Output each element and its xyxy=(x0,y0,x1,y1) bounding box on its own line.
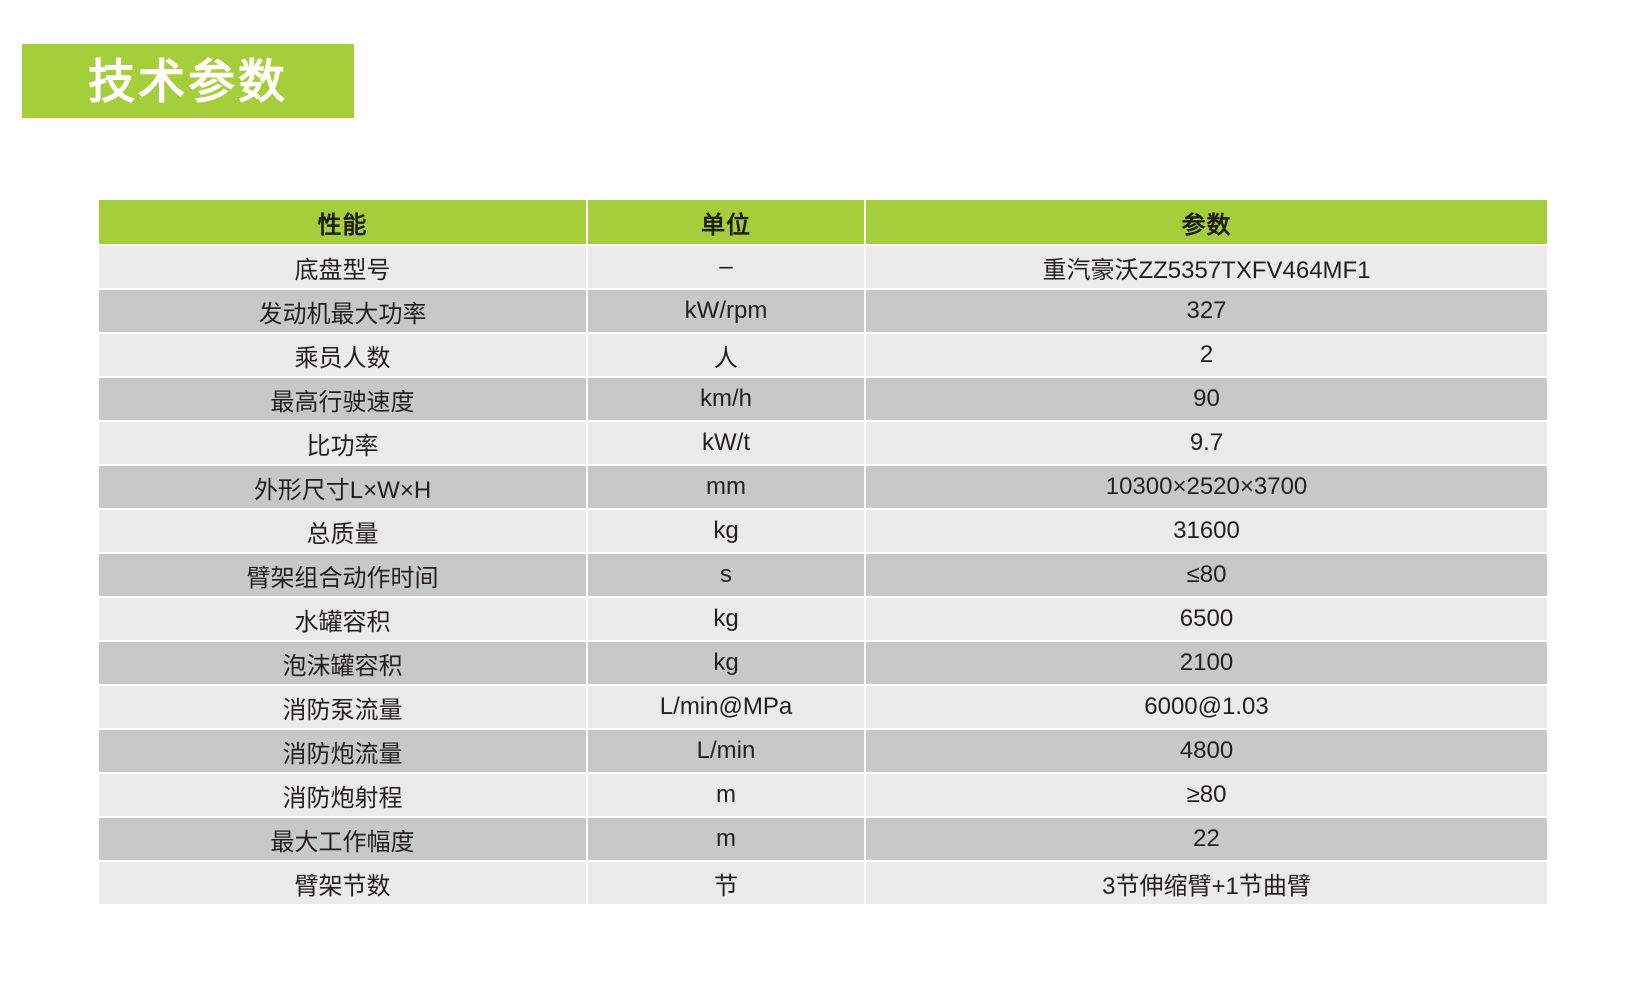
cell-performance: 臂架节数 xyxy=(99,862,586,904)
cell-performance: 外形尺寸L×W×H xyxy=(99,466,586,508)
cell-performance: 比功率 xyxy=(99,422,586,464)
table-row: 比功率kW/t9.7 xyxy=(99,422,1547,464)
cell-performance: 乘员人数 xyxy=(99,334,586,376)
column-header-performance: 性能 xyxy=(99,200,586,244)
table-row: 最大工作幅度m22 xyxy=(99,818,1547,860)
cell-unit: kg xyxy=(588,510,864,552)
table-row: 乘员人数人2 xyxy=(99,334,1547,376)
table-row: 底盘型号–重汽豪沃ZZ5357TXFV464MF1 xyxy=(99,246,1547,288)
specifications-table: 性能 单位 参数 底盘型号–重汽豪沃ZZ5357TXFV464MF1发动机最大功… xyxy=(97,198,1549,906)
cell-performance: 底盘型号 xyxy=(99,246,586,288)
cell-unit: mm xyxy=(588,466,864,508)
cell-parameter: 2 xyxy=(866,334,1547,376)
cell-unit: kg xyxy=(588,642,864,684)
cell-parameter: 31600 xyxy=(866,510,1547,552)
page-title: 技术参数 xyxy=(88,58,288,105)
cell-unit: L/min xyxy=(588,730,864,772)
table-body: 底盘型号–重汽豪沃ZZ5357TXFV464MF1发动机最大功率kW/rpm32… xyxy=(99,246,1547,904)
cell-unit: km/h xyxy=(588,378,864,420)
cell-performance: 泡沫罐容积 xyxy=(99,642,586,684)
column-header-parameter: 参数 xyxy=(866,200,1547,244)
cell-unit: 人 xyxy=(588,334,864,376)
cell-unit: kW/t xyxy=(588,422,864,464)
cell-unit: kW/rpm xyxy=(588,290,864,332)
specifications-table-container: 性能 单位 参数 底盘型号–重汽豪沃ZZ5357TXFV464MF1发动机最大功… xyxy=(97,198,1545,906)
column-header-unit: 单位 xyxy=(588,200,864,244)
cell-parameter: 3节伸缩臂+1节曲臂 xyxy=(866,862,1547,904)
cell-performance: 消防炮射程 xyxy=(99,774,586,816)
cell-unit: m xyxy=(588,818,864,860)
cell-performance: 消防炮流量 xyxy=(99,730,586,772)
table-row: 外形尺寸L×W×Hmm10300×2520×3700 xyxy=(99,466,1547,508)
page-title-banner: 技术参数 xyxy=(22,44,354,118)
cell-parameter: 9.7 xyxy=(866,422,1547,464)
cell-parameter: 6500 xyxy=(866,598,1547,640)
table-row: 臂架节数节3节伸缩臂+1节曲臂 xyxy=(99,862,1547,904)
cell-parameter: 327 xyxy=(866,290,1547,332)
table-row: 消防炮射程m≥80 xyxy=(99,774,1547,816)
cell-unit: m xyxy=(588,774,864,816)
table-header: 性能 单位 参数 xyxy=(99,200,1547,244)
cell-performance: 臂架组合动作时间 xyxy=(99,554,586,596)
cell-parameter: 22 xyxy=(866,818,1547,860)
cell-performance: 发动机最大功率 xyxy=(99,290,586,332)
cell-performance: 总质量 xyxy=(99,510,586,552)
table-row: 总质量kg31600 xyxy=(99,510,1547,552)
page-root: 技术参数 性能 单位 参数 底盘型号–重汽豪沃ZZ5357TXFV464MF1发… xyxy=(0,0,1637,1000)
cell-unit: 节 xyxy=(588,862,864,904)
cell-unit: s xyxy=(588,554,864,596)
cell-unit: – xyxy=(588,246,864,288)
cell-performance: 水罐容积 xyxy=(99,598,586,640)
cell-performance: 最高行驶速度 xyxy=(99,378,586,420)
cell-parameter: ≤80 xyxy=(866,554,1547,596)
cell-performance: 消防泵流量 xyxy=(99,686,586,728)
cell-performance: 最大工作幅度 xyxy=(99,818,586,860)
cell-unit: L/min@MPa xyxy=(588,686,864,728)
table-row: 发动机最大功率kW/rpm327 xyxy=(99,290,1547,332)
table-row: 臂架组合动作时间s≤80 xyxy=(99,554,1547,596)
cell-parameter: 4800 xyxy=(866,730,1547,772)
cell-parameter: 2100 xyxy=(866,642,1547,684)
cell-unit: kg xyxy=(588,598,864,640)
cell-parameter: 重汽豪沃ZZ5357TXFV464MF1 xyxy=(866,246,1547,288)
table-row: 消防泵流量L/min@MPa6000@1.03 xyxy=(99,686,1547,728)
cell-parameter: ≥80 xyxy=(866,774,1547,816)
cell-parameter: 90 xyxy=(866,378,1547,420)
table-row: 最高行驶速度km/h90 xyxy=(99,378,1547,420)
cell-parameter: 6000@1.03 xyxy=(866,686,1547,728)
table-header-row: 性能 单位 参数 xyxy=(99,200,1547,244)
cell-parameter: 10300×2520×3700 xyxy=(866,466,1547,508)
table-row: 水罐容积kg6500 xyxy=(99,598,1547,640)
table-row: 消防炮流量L/min4800 xyxy=(99,730,1547,772)
table-row: 泡沫罐容积kg2100 xyxy=(99,642,1547,684)
